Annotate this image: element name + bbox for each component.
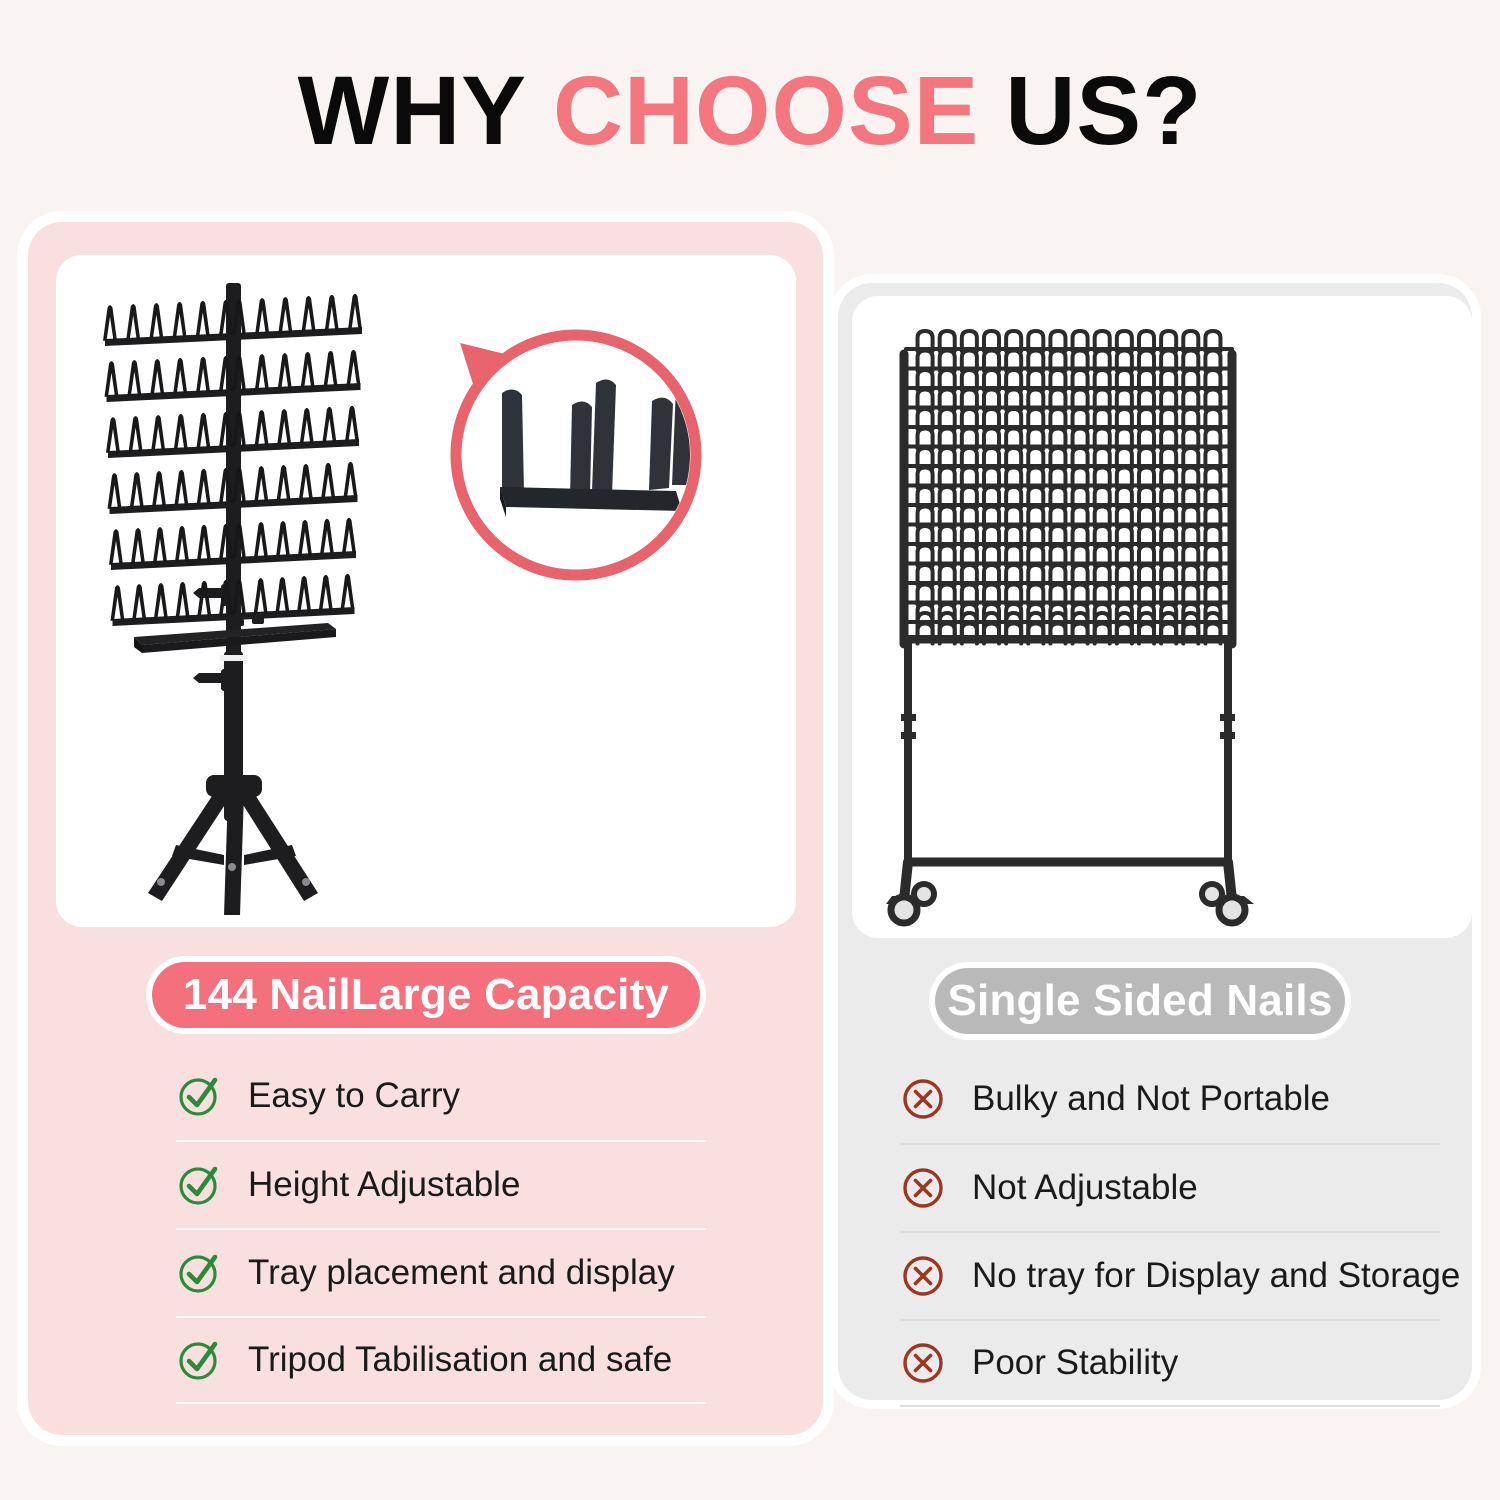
list-item: Tripod Tabilisation and safe (176, 1316, 706, 1404)
list-item-label: Bulky and Not Portable (972, 1079, 1330, 1119)
list-item: Not Adjustable (900, 1143, 1440, 1231)
x-circle-icon (900, 1165, 946, 1211)
x-circle-icon (900, 1340, 946, 1386)
list-item-label: No tray for Display and Storage (972, 1256, 1460, 1296)
our-badge-label: 144 NailLarge Capacity (183, 970, 669, 1020)
list-item: Tray placement and display (176, 1228, 706, 1316)
our-badge: 144 NailLarge Capacity (152, 962, 700, 1028)
list-item: Poor Stability (900, 1319, 1440, 1407)
single-sided-rack-illustration (852, 296, 1472, 938)
list-item: No tray for Display and Storage (900, 1231, 1440, 1319)
check-circle-icon (176, 1337, 222, 1383)
check-circle-icon (176, 1250, 222, 1296)
competitor-badge-label: Single Sided Nails (947, 976, 1332, 1026)
title-word-choose: CHOOSE (553, 62, 979, 159)
list-item-label: Tray placement and display (248, 1253, 675, 1293)
competitor-badge: Single Sided Nails (935, 968, 1345, 1034)
list-item-label: Tripod Tabilisation and safe (248, 1340, 672, 1380)
our-product-image (56, 255, 796, 927)
list-item-label: Height Adjustable (248, 1165, 520, 1205)
competitor-product-image (852, 296, 1472, 938)
list-item-label: Easy to Carry (248, 1076, 460, 1116)
our-feature-list: Easy to Carry Height Adjustable Tray pla… (176, 1052, 706, 1404)
list-item: Bulky and Not Portable (900, 1055, 1440, 1143)
page-title: WHYCHOOSEUS? (0, 62, 1500, 159)
title-word-why: WHY (298, 62, 527, 159)
list-item-label: Not Adjustable (972, 1168, 1198, 1208)
list-item: Easy to Carry (176, 1052, 706, 1140)
list-item-label: Poor Stability (972, 1343, 1178, 1383)
check-circle-icon (176, 1073, 222, 1119)
title-word-us: US? (1005, 62, 1202, 159)
x-circle-icon (900, 1076, 946, 1122)
tripod-nail-rack-illustration (56, 255, 796, 927)
list-item: Height Adjustable (176, 1140, 706, 1228)
check-circle-icon (176, 1162, 222, 1208)
x-circle-icon (900, 1253, 946, 1299)
competitor-feature-list: Bulky and Not Portable Not Adjustable No… (900, 1055, 1440, 1407)
